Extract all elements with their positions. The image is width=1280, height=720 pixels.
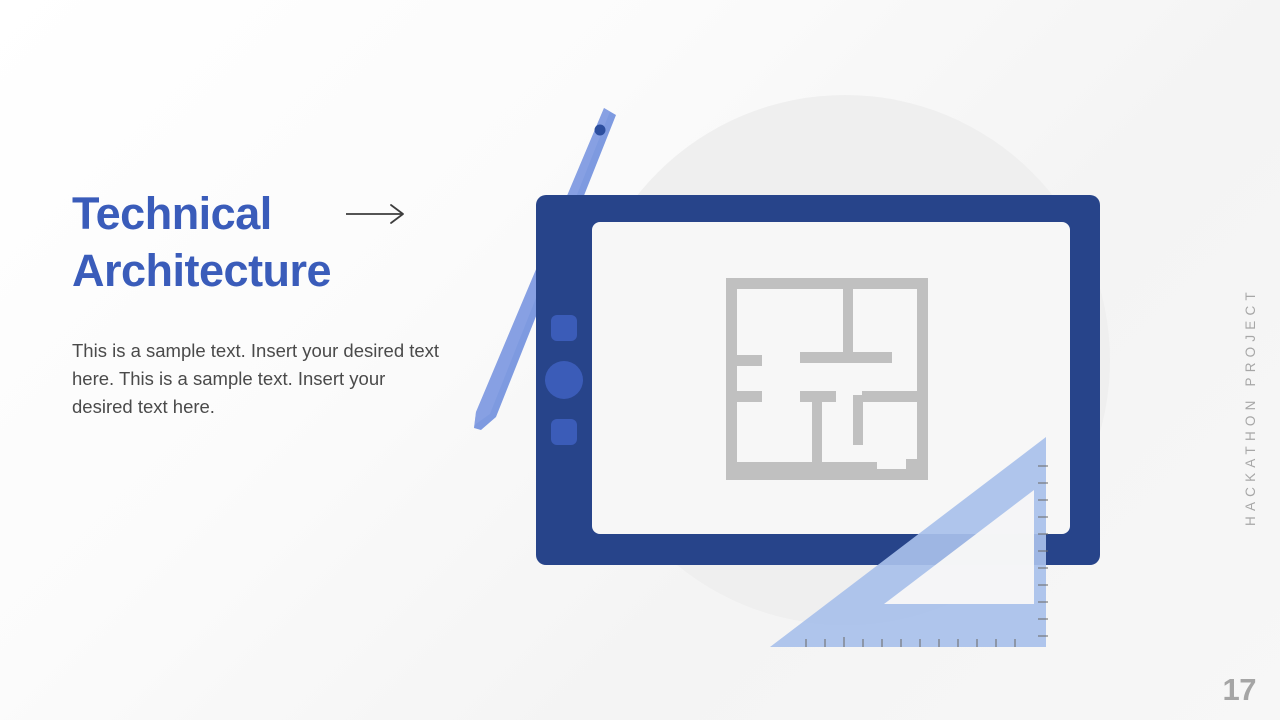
vertical-project-label: HACKATHON PROJECT: [1243, 196, 1258, 526]
background-circle-decoration: [580, 95, 1110, 625]
title-row: Technical Architecture: [72, 185, 472, 299]
page-number: 17: [1223, 672, 1256, 708]
page-title: Technical Architecture: [72, 185, 472, 299]
slide-canvas: Technical Architecture This is a sample …: [0, 0, 1280, 720]
tablet-button-home: [545, 361, 583, 399]
tablet-button-top: [551, 315, 577, 341]
text-column: Technical Architecture This is a sample …: [72, 185, 472, 421]
tablet-button-bottom: [551, 419, 577, 445]
body-paragraph: This is a sample text. Insert your desir…: [72, 337, 444, 421]
arrow-right-icon: [345, 203, 409, 225]
ruler-bottom-ticks: [806, 637, 1015, 647]
